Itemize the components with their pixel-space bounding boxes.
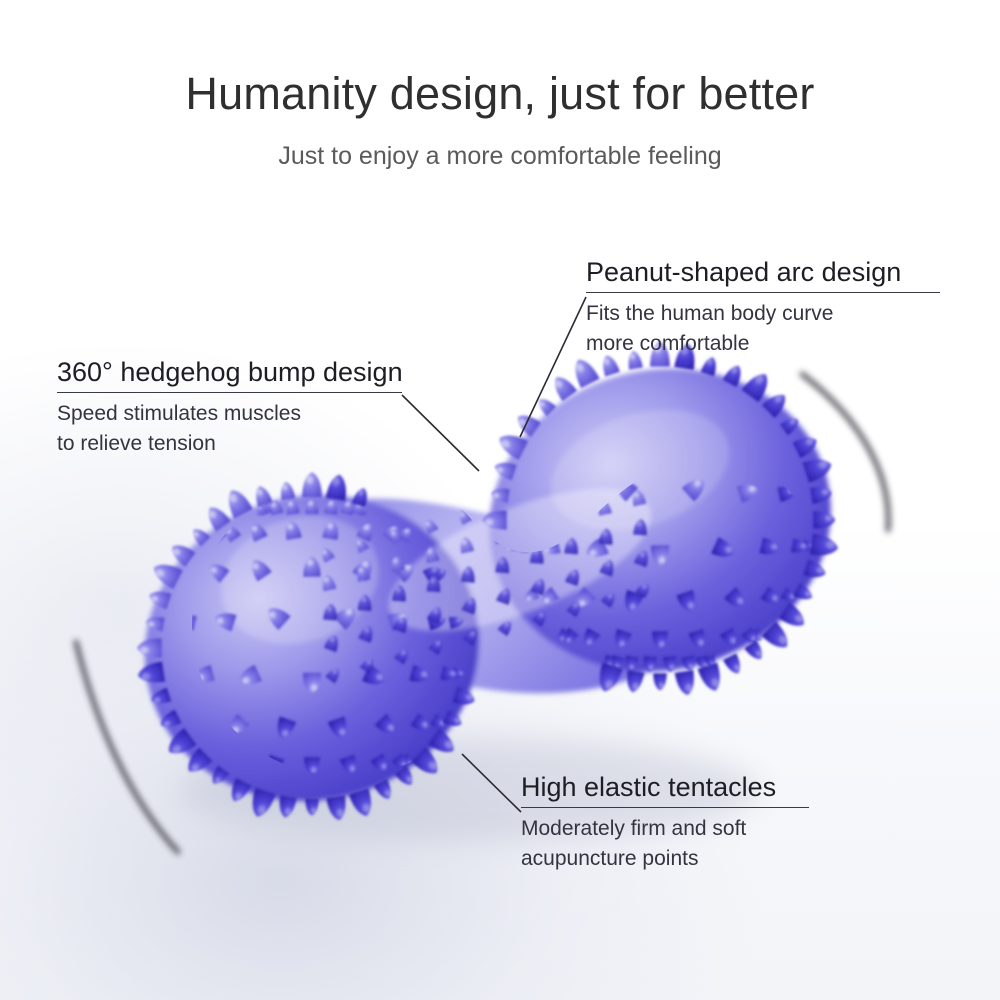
callout-heading: 360° hedgehog bump design — [57, 358, 403, 387]
product-infographic: Humanity design, just for better Just to… — [0, 0, 1000, 1000]
callout-body-line2: more comfortable — [586, 329, 940, 359]
page-title: Humanity design, just for better — [0, 68, 1000, 120]
callout-underline — [521, 807, 809, 808]
callout-body-line1: Speed stimulates muscles — [57, 399, 403, 429]
callout-body: Fits the human body curve more comfortab… — [586, 299, 940, 359]
callout-heading: High elastic tentacles — [521, 773, 809, 802]
callout-peanut-shaped-arc-design: Peanut-shaped arc design Fits the human … — [586, 258, 940, 359]
page-subtitle: Just to enjoy a more comfortable feeling — [0, 142, 1000, 171]
callout-360-hedgehog-bump-design: 360° hedgehog bump design Speed stimulat… — [57, 358, 403, 459]
callout-heading: Peanut-shaped arc design — [586, 258, 940, 287]
callout-underline — [586, 292, 940, 293]
callout-body-line1: Fits the human body curve — [586, 299, 940, 329]
callout-body-line1: Moderately firm and soft — [521, 814, 809, 844]
callout-body: Moderately firm and soft acupuncture poi… — [521, 814, 809, 874]
callout-body: Speed stimulates muscles to relieve tens… — [57, 399, 403, 459]
callout-body-line2: to relieve tension — [57, 429, 403, 459]
callout-high-elastic-tentacles: High elastic tentacles Moderately firm a… — [521, 773, 809, 874]
callout-body-line2: acupuncture points — [521, 844, 809, 874]
callout-underline — [57, 392, 402, 393]
